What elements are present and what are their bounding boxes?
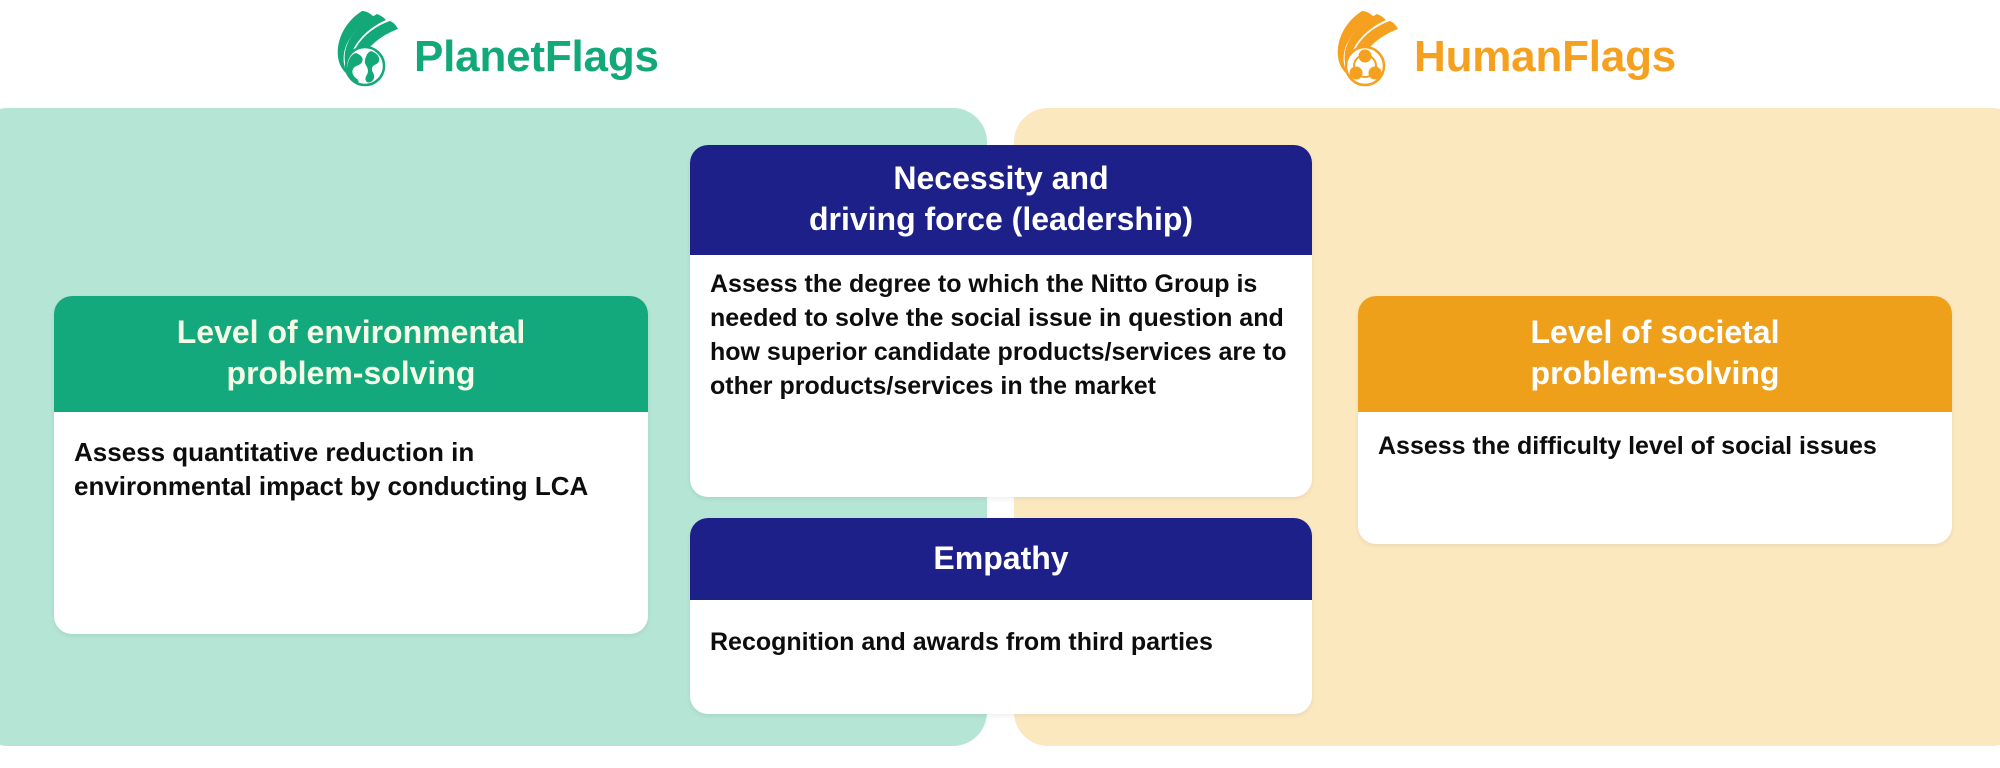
planet-flame-globe-icon bbox=[330, 9, 404, 89]
brand-planetflags: PlanetFlags bbox=[330, 6, 659, 92]
card-empathy-header: Empathy bbox=[690, 518, 1312, 600]
card-env-title-line2: problem-solving bbox=[72, 353, 630, 394]
card-necessity-title-line2: driving force (leadership) bbox=[708, 199, 1294, 240]
brand-humanflags-label: HumanFlags bbox=[1414, 19, 1676, 79]
card-env-body: Assess quantitative reduction in environ… bbox=[54, 412, 648, 522]
card-empathy-title-line1: Empathy bbox=[708, 538, 1294, 579]
card-level-of-societal-problem-solving[interactable]: Level of societal problem-solving Assess… bbox=[1358, 296, 1952, 544]
card-env-title-line1: Level of environmental bbox=[72, 312, 630, 353]
card-necessity-header: Necessity and driving force (leadership) bbox=[690, 145, 1312, 255]
card-empathy[interactable]: Empathy Recognition and awards from thir… bbox=[690, 518, 1312, 714]
card-soc-header: Level of societal problem-solving bbox=[1358, 296, 1952, 412]
card-level-of-environmental-problem-solving[interactable]: Level of environmental problem-solving A… bbox=[54, 296, 648, 634]
card-soc-title-line1: Level of societal bbox=[1376, 312, 1934, 353]
card-env-header: Level of environmental problem-solving bbox=[54, 296, 648, 412]
brand-planetflags-label: PlanetFlags bbox=[414, 19, 659, 79]
card-necessity-title-line1: Necessity and bbox=[708, 158, 1294, 199]
card-necessity-and-driving-force[interactable]: Necessity and driving force (leadership)… bbox=[690, 145, 1312, 497]
brand-humanflags: HumanFlags bbox=[1330, 6, 1676, 92]
card-soc-title-line2: problem-solving bbox=[1376, 353, 1934, 394]
human-flame-people-icon bbox=[1330, 9, 1404, 89]
card-empathy-body: Recognition and awards from third partie… bbox=[690, 600, 1312, 677]
diagram-canvas: PlanetFlags HumanFlags Level of environm… bbox=[0, 0, 2000, 768]
card-soc-body: Assess the difficulty level of social is… bbox=[1358, 412, 1952, 481]
card-necessity-body: Assess the degree to which the Nitto Gro… bbox=[690, 255, 1312, 421]
